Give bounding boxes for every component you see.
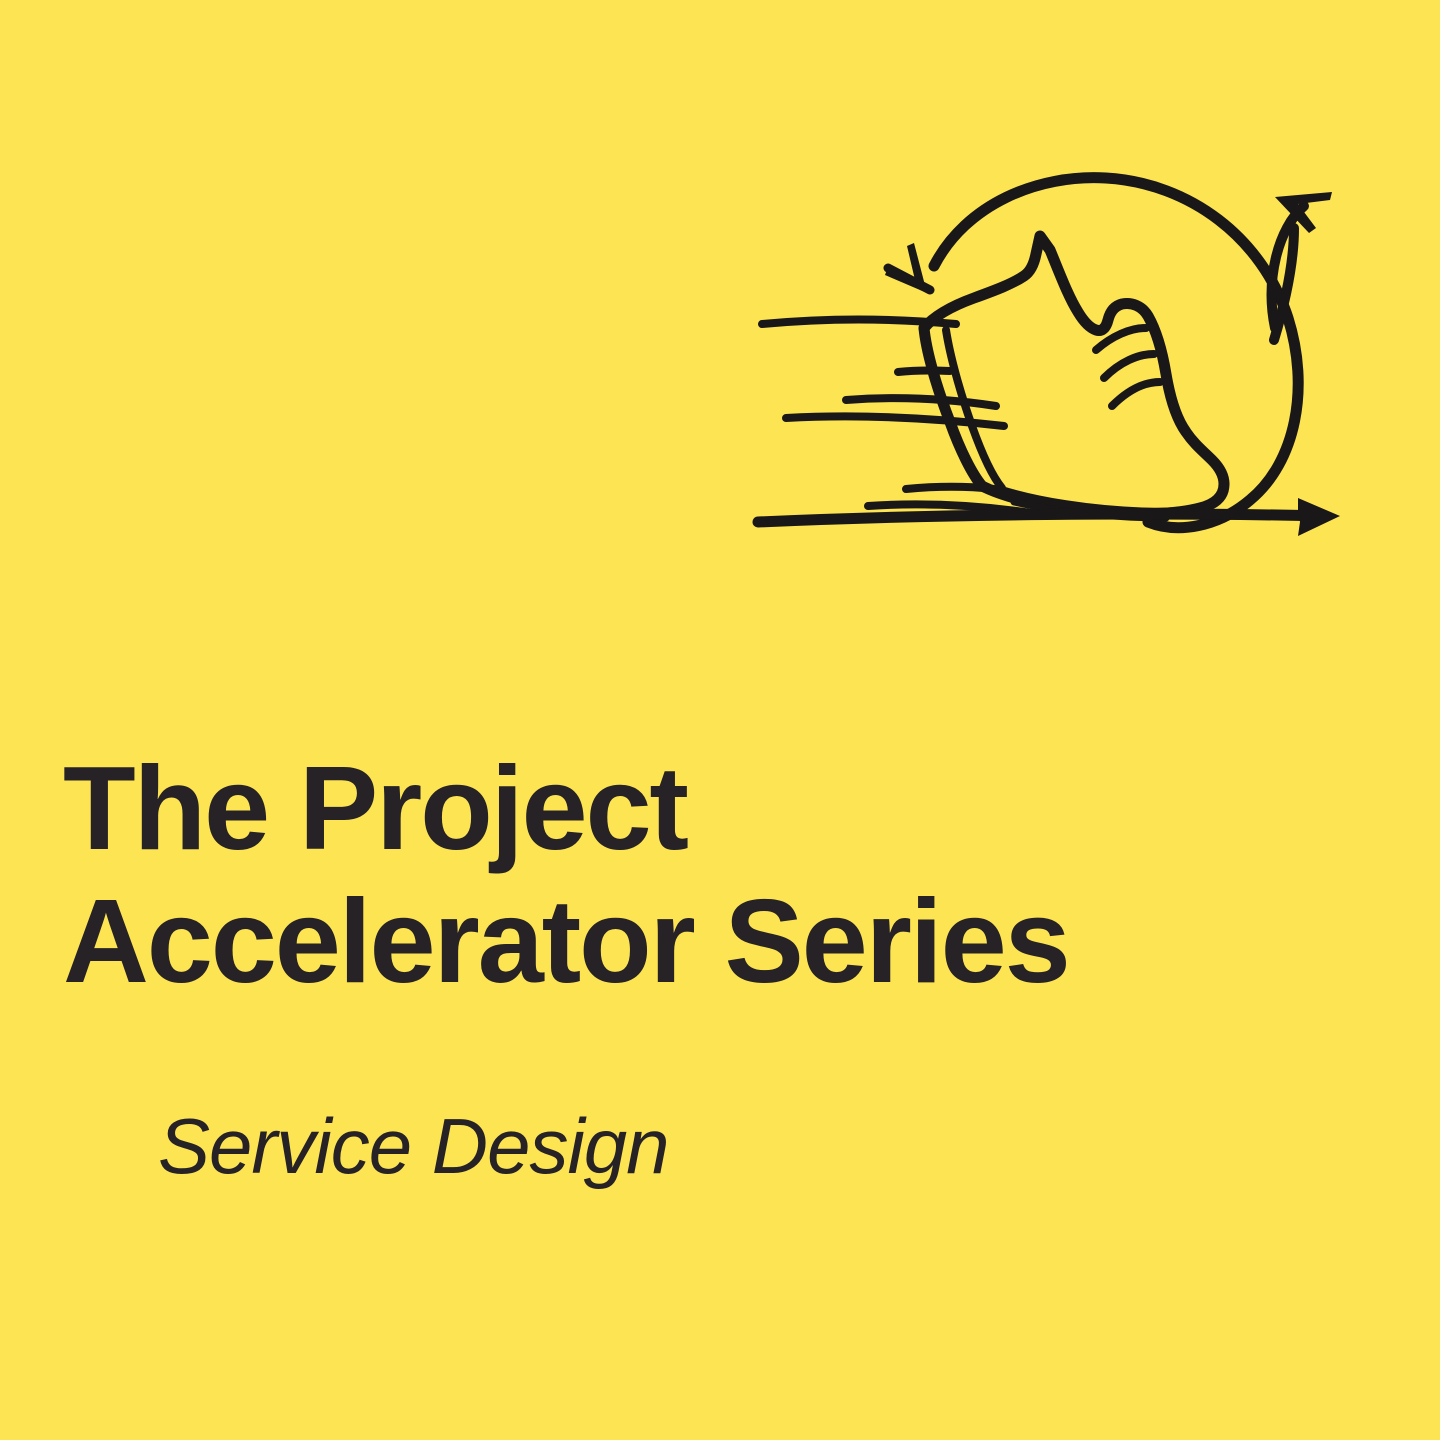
- running-shoe-illustration: [738, 150, 1348, 550]
- poster-canvas: The Project Accelerator Series Service D…: [0, 0, 1440, 1440]
- text-block: The Project Accelerator Series Service D…: [0, 742, 1440, 1188]
- shoe-lace-strokes: [1096, 328, 1160, 406]
- page-subtitle: Service Design: [0, 1008, 1440, 1188]
- running-shoe: [924, 236, 1224, 518]
- page-title: The Project Accelerator Series: [0, 742, 1440, 1008]
